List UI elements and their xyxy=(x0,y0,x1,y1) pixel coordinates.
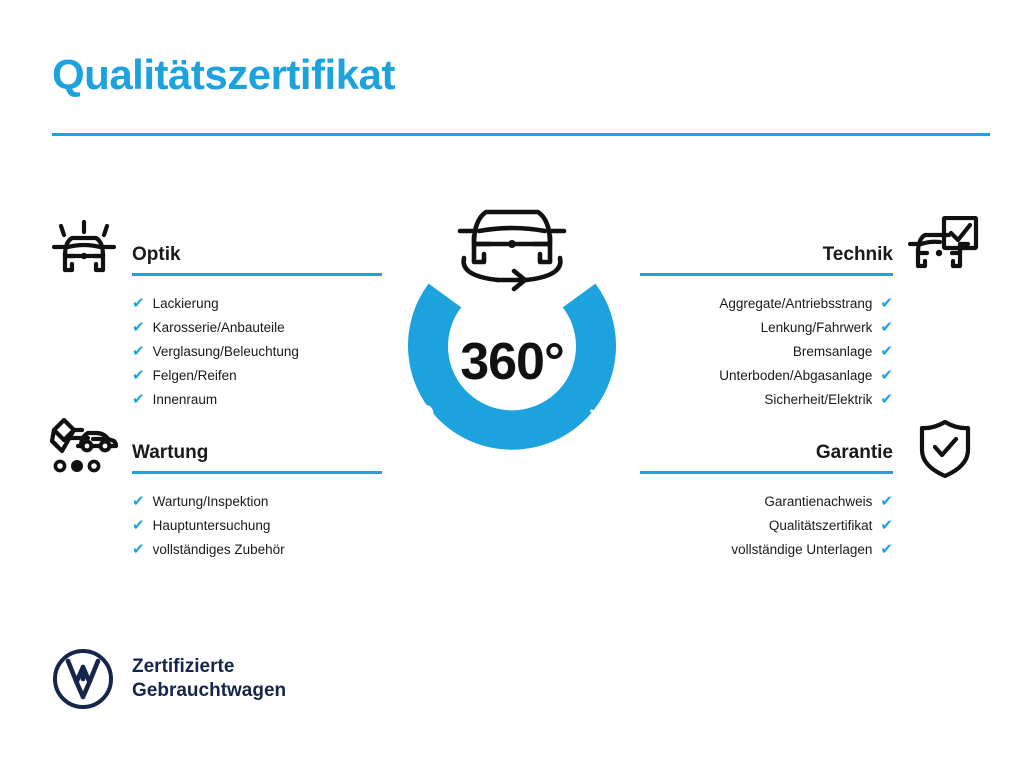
section-wartung-head: Wartung xyxy=(132,428,382,474)
list-item-label: Aggregate/Antriebsstrang xyxy=(719,292,872,316)
section-garantie-list: Garantienachweis ✔ Qualitätszertifikat ✔… xyxy=(640,490,893,562)
check-icon: ✔ xyxy=(132,542,145,557)
badge-360-check: Gebrauchtwagen-Check xyxy=(376,190,648,490)
certificate-page: Qualitätszertifikat Optik ✔ Lackierung xyxy=(0,0,1024,768)
list-item: ✔ Wartung/Inspektion xyxy=(132,490,382,514)
car-checkbox-icon xyxy=(908,216,980,274)
section-optik-title: Optik xyxy=(132,244,181,266)
vw-wordmark-line1: Zertifizierte xyxy=(132,655,286,679)
check-icon: ✔ xyxy=(880,392,893,407)
list-item: ✔ Innenraum xyxy=(132,388,382,412)
car-rotation-360-icon xyxy=(460,212,564,289)
list-item-label: Felgen/Reifen xyxy=(153,364,237,388)
list-item-label: Wartung/Inspektion xyxy=(153,490,269,514)
section-garantie-divider xyxy=(640,471,893,474)
check-icon: ✔ xyxy=(880,344,893,359)
check-icon: ✔ xyxy=(880,494,893,509)
list-item-label: Qualitätszertifikat xyxy=(769,514,873,538)
check-icon: ✔ xyxy=(132,320,145,335)
section-optik: Optik ✔ Lackierung ✔ Karosserie/Anbautei… xyxy=(132,230,382,412)
section-technik-head: Technik xyxy=(640,230,893,276)
check-icon: ✔ xyxy=(880,542,893,557)
vw-wordmark: Zertifizierte Gebrauchtwagen xyxy=(132,655,286,704)
check-icon: ✔ xyxy=(880,320,893,335)
check-icon: ✔ xyxy=(132,494,145,509)
volkswagen-logo xyxy=(52,648,114,710)
list-item: Sicherheit/Elektrik ✔ xyxy=(640,388,893,412)
check-icon: ✔ xyxy=(880,368,893,383)
list-item-label: vollständige Unterlagen xyxy=(731,538,872,562)
header-divider xyxy=(52,133,990,136)
section-technik-divider xyxy=(640,273,893,276)
section-technik-list: Aggregate/Antriebsstrang ✔ Lenkung/Fahrw… xyxy=(640,292,893,412)
check-icon: ✔ xyxy=(880,518,893,533)
list-item-label: Innenraum xyxy=(153,388,218,412)
section-wartung-divider xyxy=(132,471,382,474)
section-optik-list: ✔ Lackierung ✔ Karosserie/Anbauteile ✔ V… xyxy=(132,292,382,412)
shield-check-icon xyxy=(916,418,974,480)
section-technik: Technik Aggregate/Antriebsstrang ✔ Lenku… xyxy=(640,230,893,412)
list-item-label: Karosserie/Anbauteile xyxy=(153,316,285,340)
check-icon: ✔ xyxy=(132,344,145,359)
check-icon: ✔ xyxy=(132,368,145,383)
list-item-label: Sicherheit/Elektrik xyxy=(764,388,872,412)
list-item: Unterboden/Abgasanlage ✔ xyxy=(640,364,893,388)
list-item-label: Bremsanlage xyxy=(793,340,873,364)
list-item: Lenkung/Fahrwerk ✔ xyxy=(640,316,893,340)
list-item-label: Garantienachweis xyxy=(764,490,872,514)
list-item: vollständige Unterlagen ✔ xyxy=(640,538,893,562)
vw-certified-lockup: Zertifizierte Gebrauchtwagen xyxy=(52,648,286,710)
section-garantie-head: Garantie xyxy=(640,428,893,474)
list-item-label: Lackierung xyxy=(153,292,219,316)
car-shine-icon xyxy=(48,216,120,278)
section-optik-head: Optik xyxy=(132,230,382,276)
vw-wordmark-line2: Gebrauchtwagen xyxy=(132,679,286,703)
list-item: ✔ Lackierung xyxy=(132,292,382,316)
list-item-label: Lenkung/Fahrwerk xyxy=(761,316,873,340)
section-garantie-title: Garantie xyxy=(816,442,893,464)
section-garantie: Garantie Garantienachweis ✔ Qualitätszer… xyxy=(640,428,893,562)
list-item-label: Hauptuntersuchung xyxy=(153,514,271,538)
list-item: Qualitätszertifikat ✔ xyxy=(640,514,893,538)
section-wartung-title: Wartung xyxy=(132,442,208,464)
list-item-label: Verglasung/Beleuchtung xyxy=(153,340,299,364)
badge-number: 360° xyxy=(376,336,648,388)
check-icon: ✔ xyxy=(132,518,145,533)
list-item-label: vollständiges Zubehör xyxy=(153,538,285,562)
list-item: Garantienachweis ✔ xyxy=(640,490,893,514)
section-technik-title: Technik xyxy=(823,244,893,266)
check-icon: ✔ xyxy=(132,296,145,311)
section-optik-divider xyxy=(132,273,382,276)
page-title: Qualitätszertifikat xyxy=(52,52,395,98)
list-item: Bremsanlage ✔ xyxy=(640,340,893,364)
check-icon: ✔ xyxy=(132,392,145,407)
list-item: Aggregate/Antriebsstrang ✔ xyxy=(640,292,893,316)
check-icon: ✔ xyxy=(880,296,893,311)
section-wartung: Wartung ✔ Wartung/Inspektion ✔ Hauptunte… xyxy=(132,428,382,562)
list-item: ✔ Karosserie/Anbauteile xyxy=(132,316,382,340)
car-service-pencil-icon xyxy=(48,418,120,476)
list-item: ✔ Felgen/Reifen xyxy=(132,364,382,388)
list-item: ✔ Verglasung/Beleuchtung xyxy=(132,340,382,364)
list-item-label: Unterboden/Abgasanlage xyxy=(719,364,872,388)
list-item: ✔ vollständiges Zubehör xyxy=(132,538,382,562)
section-wartung-list: ✔ Wartung/Inspektion ✔ Hauptuntersuchung… xyxy=(132,490,382,562)
list-item: ✔ Hauptuntersuchung xyxy=(132,514,382,538)
